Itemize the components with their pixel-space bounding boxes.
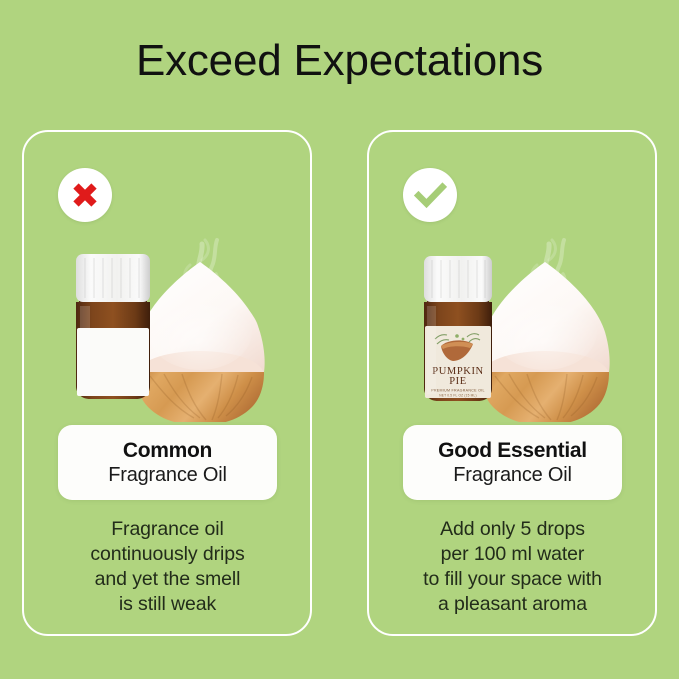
plate-subtitle: Fragrance Oil	[453, 463, 572, 488]
bottle-label-descriptor: PREMIUM FRAGRANCE OIL	[431, 389, 485, 393]
diffuser-unit	[135, 262, 264, 422]
caption-line: continuously drips	[34, 542, 301, 567]
caption-line: and yet the smell	[34, 567, 301, 592]
caption-line: a pleasant aroma	[379, 592, 646, 617]
caption-line: to fill your space with	[379, 567, 646, 592]
status-badge-cross	[58, 168, 112, 222]
check-icon	[403, 168, 457, 222]
comparison-card-good-essential: PUMPKIN PIE PREMIUM FRAGRANCE OIL NET 0.…	[367, 130, 657, 636]
oil-bottle-pumpkin-pie: PUMPKIN PIE PREMIUM FRAGRANCE OIL NET 0.…	[424, 256, 492, 401]
oil-bottle-common	[76, 254, 150, 399]
plate-subtitle: Fragrance Oil	[108, 463, 227, 488]
plate-title: Common	[123, 438, 212, 463]
caption-line: per 100 ml water	[379, 542, 646, 567]
diffuser-unit	[480, 262, 609, 422]
caption-line: Add only 5 drops	[379, 517, 646, 542]
caption-line: Fragrance oil	[34, 517, 301, 542]
status-badge-check	[403, 168, 457, 222]
caption-good-essential: Add only 5 drops per 100 ml water to fil…	[379, 517, 646, 617]
comparison-card-common: Common Fragrance Oil Fragrance oil conti…	[22, 130, 312, 636]
bottle-label-name-line2: PIE	[449, 376, 467, 387]
bottle-label-volume: NET 0.5 FL OZ (15 ML)	[439, 394, 477, 398]
caption-line: is still weak	[34, 592, 301, 617]
name-plate-good-essential: Good Essential Fragrance Oil	[403, 425, 622, 500]
name-plate-common: Common Fragrance Oil	[58, 425, 277, 500]
plate-title: Good Essential	[438, 438, 587, 463]
caption-common: Fragrance oil continuously drips and yet…	[34, 517, 301, 617]
cross-icon	[58, 168, 112, 222]
page-title: Exceed Expectations	[0, 34, 679, 88]
